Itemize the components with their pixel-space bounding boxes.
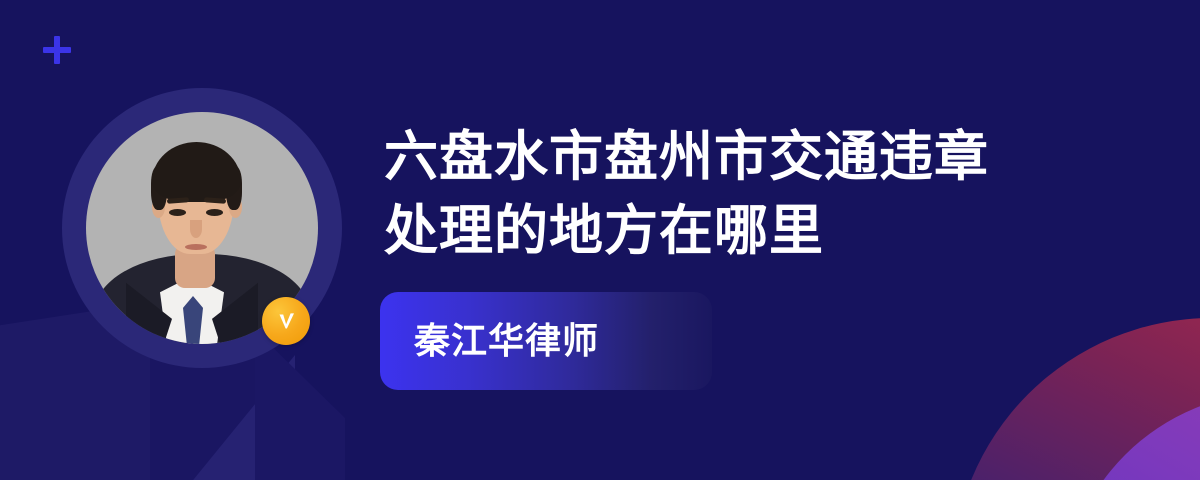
verified-v-icon — [262, 297, 310, 345]
portrait-eye-right — [206, 209, 223, 216]
plus-icon — [43, 36, 71, 64]
page-title: 六盘水市盘州市交通违章 处理的地方在哪里 — [384, 120, 1124, 268]
avatar[interactable] — [62, 88, 342, 368]
portrait-eye-left — [169, 209, 186, 216]
portrait-nose — [190, 220, 202, 238]
banner-text-block: 六盘水市盘州市交通违章 处理的地方在哪里 — [384, 120, 1124, 268]
portrait-mouth — [185, 244, 207, 250]
banner-card: 六盘水市盘州市交通违章 处理的地方在哪里 秦江华律师 — [0, 0, 1200, 480]
author-name-badge[interactable]: 秦江华律师 — [380, 292, 712, 390]
author-name-label: 秦江华律师 — [414, 323, 599, 359]
portrait-hair — [152, 142, 241, 202]
